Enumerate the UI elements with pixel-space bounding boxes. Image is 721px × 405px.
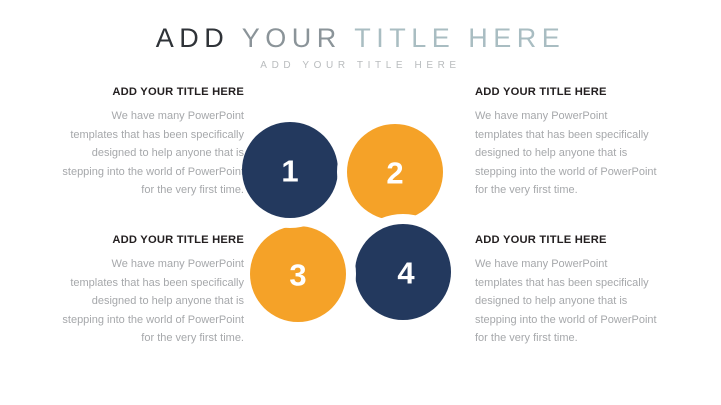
pinwheel-segment-1-number: 1 — [281, 154, 298, 189]
text-block-3-body: We have many PowerPoint templates that h… — [62, 255, 244, 348]
page-title-part-2: YOUR — [242, 23, 342, 53]
page-subtitle: ADD YOUR TITLE HERE — [0, 60, 721, 71]
text-block-1: ADD YOUR TITLE HERE We have many PowerPo… — [62, 86, 244, 200]
pinwheel-segment-1[interactable]: 1 — [242, 122, 338, 218]
text-block-4-title: ADD YOUR TITLE HERE — [475, 234, 657, 246]
pinwheel-segment-2-number: 2 — [386, 156, 403, 191]
page-title-part-3: TITLE HERE — [354, 23, 565, 53]
pinwheel-segment-3-number: 3 — [289, 258, 306, 293]
pinwheel-segment-2[interactable]: 2 — [347, 124, 443, 220]
pinwheel-segment-4-number: 4 — [397, 256, 415, 291]
pinwheel-segment-4[interactable]: 4 — [355, 224, 451, 320]
text-block-2-title: ADD YOUR TITLE HERE — [475, 86, 657, 98]
page-title-part-1: ADD — [156, 23, 230, 53]
slide-header: ADD YOUR TITLE HERE ADD YOUR TITLE HERE — [0, 24, 721, 71]
text-block-4: ADD YOUR TITLE HERE We have many PowerPo… — [475, 234, 657, 348]
text-block-2-body: We have many PowerPoint templates that h… — [475, 107, 657, 200]
text-block-3: ADD YOUR TITLE HERE We have many PowerPo… — [62, 234, 244, 348]
text-block-4-body: We have many PowerPoint templates that h… — [475, 255, 657, 348]
text-block-1-title: ADD YOUR TITLE HERE — [62, 86, 244, 98]
pinwheel-segment-3[interactable]: 3 — [250, 226, 346, 322]
pinwheel-diagram: 1 2 3 4 — [232, 100, 482, 335]
text-block-3-title: ADD YOUR TITLE HERE — [62, 234, 244, 246]
slide-canvas: ADD YOUR TITLE HERE ADD YOUR TITLE HERE … — [0, 0, 721, 405]
text-block-2: ADD YOUR TITLE HERE We have many PowerPo… — [475, 86, 657, 200]
page-title: ADD YOUR TITLE HERE — [0, 24, 721, 52]
text-block-1-body: We have many PowerPoint templates that h… — [62, 107, 244, 200]
